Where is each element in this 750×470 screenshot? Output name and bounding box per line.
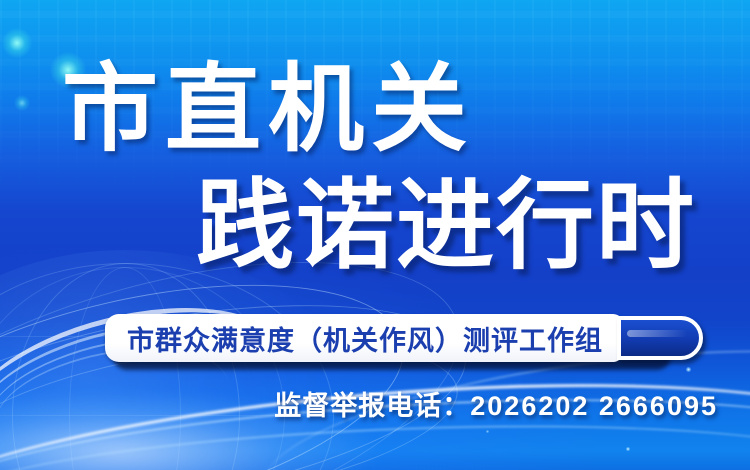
organization-banner: 市群众满意度（机关作风）测评工作组 <box>105 314 623 366</box>
banner-label: 市群众满意度（机关作风）测评工作组 <box>127 319 603 358</box>
hotline-label: 监督举报电话： <box>274 391 470 421</box>
poster-canvas: 市直机关 践诺进行时 市群众满意度（机关作风）测评工作组 监督举报电话：2026… <box>0 0 750 470</box>
headline-line-1: 市直机关 <box>62 62 474 158</box>
sparkle-icon <box>686 367 691 372</box>
sparkle-icon <box>626 447 630 451</box>
hotline-numbers: 2026202 2666095 <box>470 391 718 421</box>
headline-block: 市直机关 践诺进行时 <box>0 0 750 310</box>
banner-plate: 市群众满意度（机关作风）测评工作组 <box>105 314 623 362</box>
sparkle-icon <box>486 430 489 433</box>
headline-line-2: 践诺进行时 <box>196 178 696 276</box>
hotline-block: 监督举报电话：2026202 2666095 <box>274 384 718 423</box>
banner-end-cap-icon <box>617 316 703 360</box>
